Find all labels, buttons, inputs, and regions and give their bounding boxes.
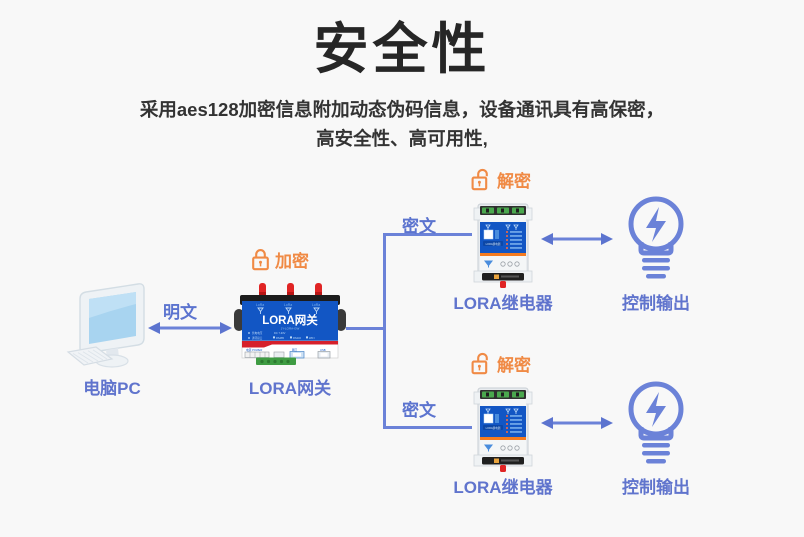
node-output-bottom-label: 控制输出 — [596, 473, 716, 498]
lora-gateway-icon: LoRaLoRaLoRa LORA网关 JY-LORA-GW 供电电压 DC 7… — [234, 283, 346, 365]
node-relay-bottom[interactable]: LORA继电器 — [474, 382, 532, 474]
subtitle-line-1: 采用aes128加密信息附加动态伪码信息，设备通讯具有高保密， — [92, 96, 712, 125]
svg-text:供电电压: 供电电压 — [252, 331, 263, 335]
badge-decrypt-top-label: 解密 — [497, 167, 531, 192]
badge-decrypt-bottom: 解密 — [471, 351, 531, 376]
node-relay-top[interactable]: LORA继电器 — [474, 198, 532, 290]
svg-text:DC 7-30V: DC 7-30V — [274, 331, 286, 335]
node-output-top[interactable] — [616, 192, 696, 280]
link-label-ciphertext-bottom: 密文 — [402, 396, 436, 421]
node-relay-bottom-label: LORA继电器 — [443, 473, 563, 498]
lora-relay-icon: LORA继电器 — [474, 382, 532, 474]
subtitle-line-2: 高安全性、高可用性, — [92, 125, 712, 154]
page-title: 安全性 — [0, 18, 804, 81]
svg-text:LORA继电器: LORA继电器 — [486, 426, 501, 430]
link-label-ciphertext-top: 密文 — [402, 212, 436, 237]
badge-decrypt-bottom-label: 解密 — [497, 351, 531, 376]
svg-text:LORA网关: LORA网关 — [262, 313, 318, 327]
desktop-computer-icon — [62, 282, 162, 374]
svg-text:电源 POWER: 电源 POWER — [246, 348, 262, 352]
badge-encrypt-label: 加密 — [275, 247, 309, 272]
node-output-bottom[interactable] — [616, 377, 696, 465]
diagram-canvas: 安全性 采用aes128加密信息附加动态伪码信息，设备通讯具有高保密， 高安全性… — [0, 0, 804, 537]
svg-text:LORA继电器: LORA继电器 — [486, 242, 501, 246]
light-bulb-icon — [616, 192, 696, 280]
svg-text:WIFI: WIFI — [309, 336, 315, 340]
lock-open-icon — [471, 168, 492, 191]
gateway-antennas — [259, 283, 322, 297]
svg-text:LoRa: LoRa — [284, 303, 292, 307]
light-bulb-icon — [616, 377, 696, 465]
node-gateway[interactable]: LoRaLoRaLoRa LORA网关 JY-LORA-GW 供电电压 DC 7… — [234, 283, 346, 365]
arrow-relay-output-bottom — [541, 415, 613, 431]
lora-relay-icon: LORA继电器 — [474, 198, 532, 290]
svg-text:RS232: RS232 — [293, 336, 301, 340]
link-branch-bottom — [383, 426, 472, 429]
badge-decrypt-top: 解密 — [471, 167, 531, 192]
node-relay-top-label: LORA继电器 — [443, 289, 563, 314]
node-pc[interactable] — [62, 282, 162, 374]
node-output-top-label: 控制输出 — [596, 289, 716, 314]
badge-encrypt: 加密 — [251, 247, 309, 272]
svg-text:通讯接口: 通讯接口 — [252, 336, 263, 340]
svg-text:RS485: RS485 — [276, 336, 284, 340]
lock-open-icon — [471, 352, 492, 375]
page-subtitle: 采用aes128加密信息附加动态伪码信息，设备通讯具有高保密， 高安全性、高可用… — [92, 96, 712, 153]
link-trunk-vertical — [383, 233, 386, 429]
lock-closed-icon — [251, 248, 270, 271]
arrow-relay-output-top — [541, 231, 613, 247]
link-gateway-trunk — [346, 327, 386, 330]
node-pc-label: 电脑PC — [62, 374, 162, 399]
svg-text:LoRa: LoRa — [312, 303, 320, 307]
svg-text:JY-LORA-GW: JY-LORA-GW — [281, 327, 300, 331]
svg-text:LoRa: LoRa — [256, 303, 264, 307]
node-gateway-label: LORA网关 — [230, 374, 350, 399]
